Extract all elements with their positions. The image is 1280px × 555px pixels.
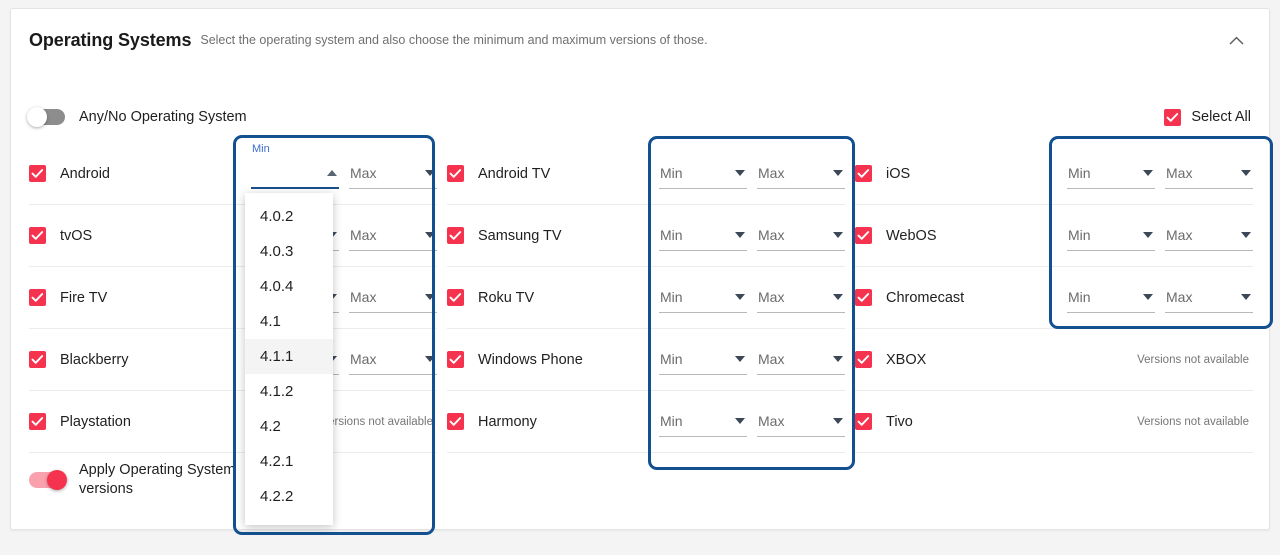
table-row: Roku TV Min Max [447,267,845,329]
min-version-select[interactable]: Min [659,407,747,437]
menu-item[interactable]: 4.1.2 [245,374,333,409]
toggle-knob [47,470,67,490]
chevron-down-icon [833,356,843,362]
os-columns: Android Min Max tvOS Min [29,143,1253,453]
max-version-value: Max [758,289,784,305]
os-column-2: Android TV Min Max Samsung TV [437,143,845,453]
min-version-select[interactable]: Min [659,159,747,189]
apply-versions-label: Apply Operating System versions [79,461,259,499]
toggle-knob [27,107,47,127]
any-no-os-toggle[interactable] [29,109,65,125]
os-label: WebOS [886,228,937,244]
menu-item[interactable]: 4.0.2 [245,199,333,234]
chevron-up-icon[interactable] [1223,27,1249,53]
min-version-select[interactable]: Min [659,345,747,375]
chevron-down-icon [1143,232,1153,238]
max-version-value: Max [758,227,784,243]
page-subtitle: Select the operating system and also cho… [200,33,707,47]
max-version-select[interactable]: Max [757,407,845,437]
version-selects: Min Max [251,159,437,189]
min-version-value: Min [660,227,683,243]
top-controls-row: Any/No Operating System Select All [11,101,1269,133]
os-checkbox[interactable] [855,289,872,306]
table-row: iOS Min Max [855,143,1253,205]
os-label: Android TV [478,166,550,182]
card-header: Operating Systems Select the operating s… [11,9,1269,71]
max-version-value: Max [758,413,784,429]
os-checkbox[interactable] [29,165,46,182]
max-version-value: Max [1166,227,1192,243]
apply-versions-toggle[interactable] [29,472,65,488]
menu-item[interactable]: 4.1 [245,304,333,339]
os-label: Samsung TV [478,228,562,244]
table-row: Chromecast Min Max [855,267,1253,329]
version-selects: Min Max [659,345,845,375]
version-selects: Versions not available [1137,354,1253,366]
chevron-down-icon [425,294,435,300]
min-version-select[interactable]: Min [659,221,747,251]
min-version-select[interactable]: Min [659,283,747,313]
max-version-select[interactable]: Max [757,221,845,251]
max-version-select[interactable]: Max [349,345,437,375]
version-selects: Min Max [1067,159,1253,189]
min-version-value: Min [660,351,683,367]
os-checkbox[interactable] [855,413,872,430]
max-version-select[interactable]: Max [757,159,845,189]
os-label: Playstation [60,414,131,430]
version-selects: Min Max [659,407,845,437]
os-label: Harmony [478,414,537,430]
os-checkbox[interactable] [29,351,46,368]
version-selects: Min Max [1067,221,1253,251]
chevron-down-icon [833,418,843,424]
chevron-down-icon [735,294,745,300]
version-selects: Versions not available [321,416,437,428]
min-version-value: Min [660,289,683,305]
select-all-control[interactable]: Select All [1164,109,1251,126]
min-version-value: Min [660,413,683,429]
os-label: Android [60,166,110,182]
os-checkbox[interactable] [855,227,872,244]
table-row: XBOX Versions not available [855,329,1253,391]
select-all-label: Select All [1191,109,1251,125]
table-row: Tivo Versions not available [855,391,1253,453]
max-version-select[interactable]: Max [1165,221,1253,251]
os-label: Roku TV [478,290,534,306]
min-float-label: Min [252,143,270,155]
os-label: Fire TV [60,290,107,306]
min-version-select[interactable]: Min [1067,159,1155,189]
chevron-down-icon [833,232,843,238]
table-row: Samsung TV Min Max [447,205,845,267]
min-version-value: Min [1068,165,1091,181]
os-label: Blackberry [60,352,129,368]
min-version-value: Min [1068,289,1091,305]
menu-item[interactable]: 4.0.4 [245,269,333,304]
max-version-value: Max [350,165,376,181]
os-checkbox[interactable] [447,289,464,306]
max-version-select[interactable]: Max [1165,159,1253,189]
max-version-value: Max [350,351,376,367]
chevron-down-icon [833,294,843,300]
table-row: Windows Phone Min Max [447,329,845,391]
versions-not-available-text: Versions not available [1137,354,1253,366]
os-checkbox[interactable] [447,351,464,368]
select-all-checkbox[interactable] [1164,109,1181,126]
menu-item[interactable]: 4.2.2 [245,479,333,514]
chevron-down-icon [1143,294,1153,300]
chevron-down-icon [1241,294,1251,300]
table-row: Harmony Min Max [447,391,845,453]
version-selects: Versions not available [1137,416,1253,428]
table-row: Blackberry Min Max [29,329,437,391]
os-label: tvOS [60,228,92,244]
max-version-value: Max [1166,289,1192,305]
chevron-down-icon [735,418,745,424]
os-label: Chromecast [886,290,964,306]
os-column-1: Android Min Max tvOS Min [29,143,437,453]
os-label: Tivo [886,414,913,430]
any-no-os-label: Any/No Operating System [79,109,247,125]
max-version-select[interactable]: Max [757,345,845,375]
chevron-down-icon [1241,170,1251,176]
chevron-down-icon [425,170,435,176]
chevron-down-icon [833,170,843,176]
os-checkbox[interactable] [29,227,46,244]
versions-not-available-text: Versions not available [321,416,437,428]
version-selects: Min Max [659,221,845,251]
max-version-select[interactable]: Max [349,221,437,251]
menu-item[interactable]: 4.3 [245,514,333,525]
chevron-down-icon [1143,170,1153,176]
min-version-value: Min [660,165,683,181]
os-checkbox[interactable] [855,165,872,182]
os-label: Windows Phone [478,352,583,368]
os-checkbox[interactable] [447,413,464,430]
table-row: Android Min Max [29,143,437,205]
version-selects: Min Max [659,283,845,313]
operating-systems-card: Operating Systems Select the operating s… [10,8,1270,530]
max-version-value: Max [350,289,376,305]
min-version-value: Min [1068,227,1091,243]
page-title: Operating Systems [29,30,191,51]
os-checkbox[interactable] [447,165,464,182]
min-version-select[interactable]: Min [1067,221,1155,251]
version-selects: Min Max [659,159,845,189]
max-version-value: Max [758,165,784,181]
os-label: iOS [886,166,910,182]
os-checkbox[interactable] [855,351,872,368]
chevron-up-icon [327,170,337,176]
table-row: Android TV Min Max [447,143,845,205]
menu-item[interactable]: 4.0.3 [245,234,333,269]
menu-item[interactable]: 4.2 [245,409,333,444]
chevron-down-icon [735,232,745,238]
table-row: Playstation Versions not available [29,391,437,453]
menu-item[interactable]: 4.2.1 [245,444,333,479]
table-row: Fire TV Min Max [29,267,437,329]
os-checkbox[interactable] [447,227,464,244]
version-selects: Min Max [1067,283,1253,313]
max-version-select[interactable]: Max [349,283,437,313]
menu-item-selected[interactable]: 4.1.1 [245,339,333,374]
versions-not-available-text: Versions not available [1137,416,1253,428]
max-version-value: Max [1166,165,1192,181]
chevron-down-icon [425,356,435,362]
min-version-dropdown-menu[interactable]: 4.0.2 4.0.3 4.0.4 4.1 4.1.1 4.1.2 4.2 4.… [245,193,333,525]
os-label: XBOX [886,352,926,368]
max-version-select[interactable]: Max [1165,283,1253,313]
min-version-select[interactable]: Min [1067,283,1155,313]
max-version-value: Max [350,227,376,243]
max-version-select[interactable]: Max [757,283,845,313]
chevron-down-icon [735,170,745,176]
os-checkbox[interactable] [29,289,46,306]
chevron-down-icon [425,232,435,238]
chevron-down-icon [1241,232,1251,238]
os-column-3: iOS Min Max WebOS Min [845,143,1253,453]
chevron-down-icon [735,356,745,362]
table-row: tvOS Min Max [29,205,437,267]
table-row: WebOS Min Max [855,205,1253,267]
max-version-select[interactable]: Max [349,159,437,189]
max-version-value: Max [758,351,784,367]
min-version-select[interactable]: Min [251,159,339,189]
os-checkbox[interactable] [29,413,46,430]
